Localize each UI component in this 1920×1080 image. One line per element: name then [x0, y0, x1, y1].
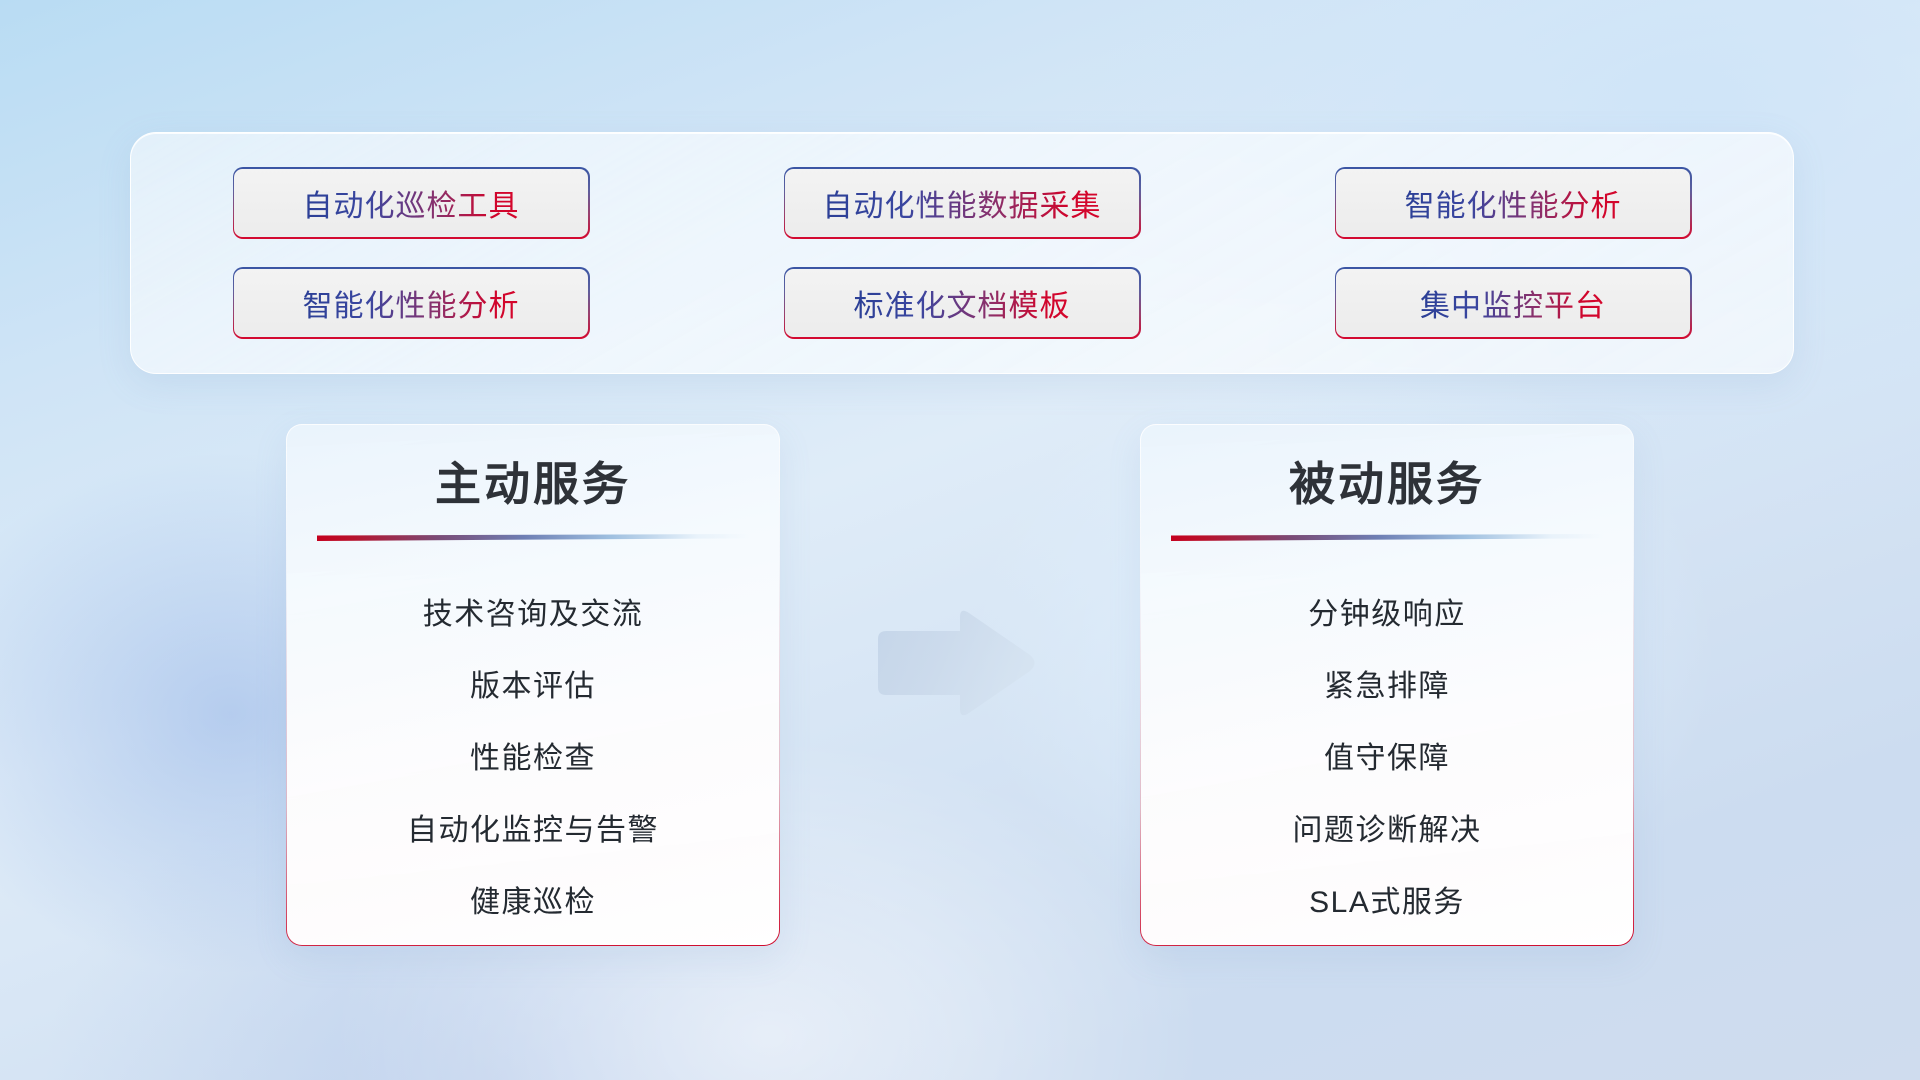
chip-label: 自动化性能数据采集 [823, 181, 1102, 225]
list-item: 技术咨询及交流 [423, 579, 644, 651]
service-card-reactive[interactable]: 被动服务 分钟级响应 紧急排障 值守保障 问题诊断解决 SLA式服务 [1140, 424, 1634, 946]
capability-chip-intelligent-perf-analysis-2[interactable]: 智能化性能分析 [233, 267, 590, 339]
card-divider [317, 534, 749, 541]
list-item: 性能检查 [470, 723, 596, 795]
list-item: 紧急排障 [1324, 651, 1450, 723]
chip-surface: 智能化性能分析 [1336, 169, 1689, 237]
card-title: 被动服务 [1289, 457, 1485, 512]
capability-panel: 自动化巡检工具 自动化性能数据采集 智能化性能分析 智能化性能分析 [130, 132, 1794, 374]
capability-row-2: 智能化性能分析 标准化文档模板 集中监控平台 [131, 267, 1793, 339]
chip-surface: 标准化文档模板 [785, 269, 1138, 337]
list-item: SLA式服务 [1309, 867, 1465, 939]
service-card-proactive[interactable]: 主动服务 技术咨询及交流 版本评估 性能检查 自动化监控与告警 健康巡检 [286, 424, 780, 946]
chip-surface: 自动化巡检工具 [234, 169, 587, 237]
chip-label: 智能化性能分析 [1405, 181, 1622, 225]
chip-surface: 集中监控平台 [1336, 269, 1689, 337]
list-item: 分钟级响应 [1308, 579, 1466, 651]
chip-label: 标准化文档模板 [854, 281, 1071, 325]
capability-chip-auto-perf-data-collection[interactable]: 自动化性能数据采集 [784, 167, 1141, 239]
list-item: 自动化监控与告警 [407, 795, 659, 867]
list-item: 版本评估 [470, 651, 596, 723]
card-divider [1171, 534, 1603, 541]
chip-label: 智能化性能分析 [303, 281, 520, 325]
infographic-canvas: 自动化巡检工具 自动化性能数据采集 智能化性能分析 智能化性能分析 [0, 0, 1920, 1080]
list-item: 问题诊断解决 [1293, 795, 1482, 867]
capability-chip-central-monitoring-platform[interactable]: 集中监控平台 [1335, 267, 1692, 339]
chip-label: 集中监控平台 [1420, 281, 1606, 325]
card-item-list: 技术咨询及交流 版本评估 性能检查 自动化监控与告警 健康巡检 [289, 579, 777, 939]
list-item: 值守保障 [1324, 723, 1450, 795]
list-item: 健康巡检 [470, 867, 596, 939]
chip-surface: 智能化性能分析 [234, 269, 587, 337]
capability-row-1: 自动化巡检工具 自动化性能数据采集 智能化性能分析 [131, 167, 1793, 239]
card-body: 被动服务 分钟级响应 紧急排障 值守保障 问题诊断解决 SLA式服务 [1143, 427, 1631, 943]
card-title: 主动服务 [435, 457, 631, 512]
card-item-list: 分钟级响应 紧急排障 值守保障 问题诊断解决 SLA式服务 [1143, 579, 1631, 939]
capability-chip-auto-inspection-tool[interactable]: 自动化巡检工具 [233, 167, 590, 239]
chip-label: 自动化巡检工具 [303, 181, 520, 225]
capability-chip-standard-doc-template[interactable]: 标准化文档模板 [784, 267, 1141, 339]
card-body: 主动服务 技术咨询及交流 版本评估 性能检查 自动化监控与告警 健康巡检 [289, 427, 777, 943]
capability-chip-intelligent-perf-analysis[interactable]: 智能化性能分析 [1335, 167, 1692, 239]
arrow-right-icon [872, 607, 1038, 719]
chip-surface: 自动化性能数据采集 [785, 169, 1138, 237]
